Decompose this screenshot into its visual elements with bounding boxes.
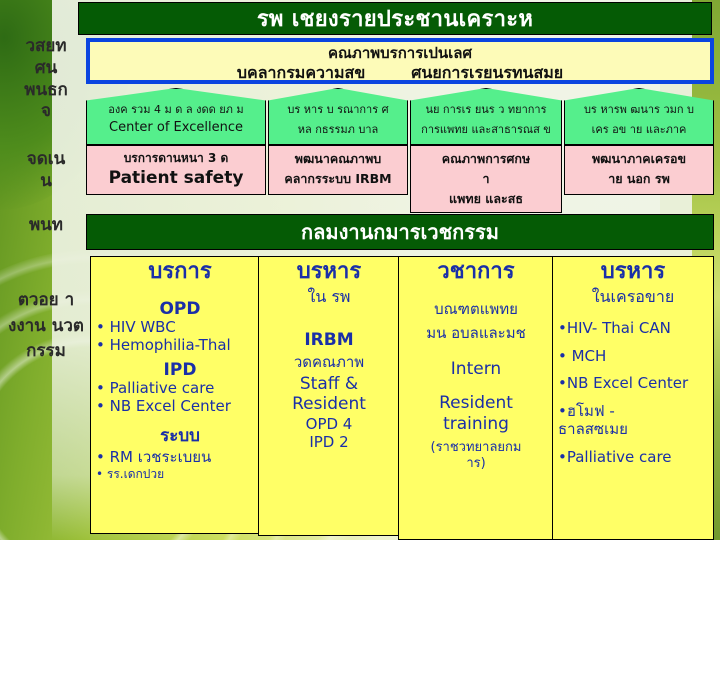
vision-line-2: บคลากรมความสขศนยการเรยนรทนสมย bbox=[90, 61, 710, 86]
column-admin-internal-subtitle: ใน รพ bbox=[259, 285, 399, 310]
column-services-item-2-1: • รร.เดกปวย bbox=[91, 467, 269, 481]
strategy-top-line-3b: การแพทย และสาธารณส ข bbox=[413, 120, 559, 138]
strategy-pink-4a: พฒนาภาคเครอข bbox=[569, 149, 709, 169]
strategy-pentagon-2: บร หาร บ รณาการ ศ หล กธรรมภ บาล bbox=[268, 88, 408, 145]
column-network: บรหาร ในเครอขาย •HIV- Thai CAN • MCH •NB… bbox=[552, 256, 714, 540]
column-academic-heading: วชาการ bbox=[399, 260, 553, 283]
strategy-card-1: องค รวม 4 ม ด ล งดด ยภ ม Center of Excel… bbox=[86, 88, 266, 195]
column-services-item-1-0: • Palliative care bbox=[91, 380, 269, 398]
strategy-top-line-1a: องค รวม 4 ม ด ล งดด ยภ ม bbox=[89, 100, 263, 118]
column-network-item-3: •ฮโมฟ - bbox=[553, 403, 713, 421]
strategy-top-line-2a: บร หาร บ รณาการ ศ bbox=[271, 100, 405, 118]
sidebar-label-5: น bbox=[2, 171, 90, 193]
strategy-top-line-4a: บร หารพ ฒนาร วมก บ bbox=[567, 100, 711, 118]
vision-line-2a: บคลากรมความสข bbox=[237, 63, 365, 82]
strategy-pink-1b: Patient safety bbox=[91, 168, 261, 188]
column-academic-line-0: บณฑตแพทย bbox=[399, 297, 553, 321]
column-network-subtitle: ในเครอขาย bbox=[553, 285, 713, 310]
column-academic-line-3: Resident bbox=[399, 393, 553, 413]
column-services-item-0-0: • HIV WBC bbox=[91, 319, 269, 337]
column-network-item-5: •Palliative care bbox=[553, 449, 713, 467]
column-network-item-4: ธาลสซเมย bbox=[553, 421, 713, 439]
column-academic: วชาการ บณฑตแพทย มน อบลและมช Intern Resid… bbox=[398, 256, 554, 540]
strategy-pink-2a: พฒนาคณภาพบ bbox=[273, 149, 403, 169]
strategy-pentagon-1: องค รวม 4 ม ด ล งดด ยภ ม Center of Excel… bbox=[86, 88, 266, 145]
strategy-pink-3: คณภาพการศกษ า แพทย และสธ bbox=[410, 145, 562, 213]
column-academic-line-1: มน อบลและมช bbox=[399, 321, 553, 345]
sidebar-lower-label-0: ตวอย bbox=[18, 290, 59, 310]
page-title-text: รพ เชยงรายประชานเคราะห bbox=[257, 1, 533, 36]
column-services-heading: บรการ bbox=[91, 260, 269, 283]
column-services-item-2-0: • RM เวชระเบยน bbox=[91, 449, 269, 467]
column-network-item-0: •HIV- Thai CAN bbox=[553, 320, 713, 338]
column-academic-line-2: Intern bbox=[399, 359, 553, 379]
strategy-pink-3b: า bbox=[415, 169, 557, 189]
column-admin-internal-line-2: Staff & bbox=[259, 374, 399, 394]
strategy-pentagon-3: นย การเร ยนร ว ทยาการ การแพทย และสาธารณส… bbox=[410, 88, 562, 145]
strategy-card-4: บร หารพ ฒนาร วมก บ เคร อข าย และภาค พฒนา… bbox=[564, 88, 714, 195]
sidebar-lower-label-2: นวต bbox=[52, 316, 84, 336]
column-services-item-0-1: • Hemophilia-Thal bbox=[91, 337, 269, 355]
column-services: บรการ OPD • HIV WBC • Hemophilia-Thal IP… bbox=[90, 256, 270, 534]
strategy-pink-1: บรการดานหนา 3 ด Patient safety bbox=[86, 145, 266, 195]
strategy-top-line-1b: Center of Excellence bbox=[89, 120, 263, 135]
column-admin-internal-line-5: IPD 2 bbox=[259, 433, 399, 451]
strategy-card-2: บร หาร บ รณาการ ศ หล กธรรมภ บาล พฒนาคณภา… bbox=[268, 88, 408, 195]
strategy-card-3: นย การเร ยนร ว ทยาการ การแพทย และสาธารณส… bbox=[410, 88, 562, 213]
column-admin-internal-line-4: OPD 4 bbox=[259, 415, 399, 433]
column-network-item-1: • MCH bbox=[553, 348, 713, 366]
strategy-top-line-4b: เคร อข าย และภาค bbox=[567, 120, 711, 138]
sidebar-label-6: พนท bbox=[2, 215, 90, 237]
group-banner: กลมงานกมารเวชกรรม bbox=[86, 214, 714, 250]
strategy-pink-3c: แพทย และสธ bbox=[415, 189, 557, 209]
strategy-pink-4: พฒนาภาคเครอข าย นอก รพ bbox=[564, 145, 714, 195]
column-academic-line-6: าร) bbox=[399, 456, 553, 472]
page-title: รพ เชยงรายประชานเคราะห bbox=[78, 2, 712, 35]
sidebar-label-4: จดเน bbox=[2, 149, 90, 171]
column-services-section-0-label: OPD bbox=[91, 299, 269, 319]
column-admin-internal: บรหาร ใน รพ IRBM วดคณภาพ Staff & Residen… bbox=[258, 256, 400, 536]
strategy-pink-2b: คลากรระบบ IRBM bbox=[273, 169, 403, 189]
strategy-pink-1a: บรการดานหนา 3 ด bbox=[91, 149, 261, 168]
column-admin-internal-line-1: วดคณภาพ bbox=[259, 350, 399, 374]
strategy-top-line-2b: หล กธรรมภ บาล bbox=[271, 120, 405, 138]
column-network-heading: บรหาร bbox=[553, 260, 713, 283]
column-admin-internal-line-0: IRBM bbox=[259, 330, 399, 350]
column-services-item-1-1: • NB Excel Center bbox=[91, 398, 269, 416]
vision-banner: คณภาพบรการเปนเลศ บคลากรมความสขศนยการเรยน… bbox=[86, 38, 714, 84]
column-network-item-2: •NB Excel Center bbox=[553, 375, 713, 393]
column-academic-line-4: training bbox=[399, 414, 553, 434]
sidebar-label-3: จ bbox=[2, 101, 90, 123]
column-services-section-1-label: IPD bbox=[91, 360, 269, 380]
strategy-pink-2: พฒนาคณภาพบ คลากรระบบ IRBM bbox=[268, 145, 408, 195]
strategy-top-line-3a: นย การเร ยนร ว ทยาการ bbox=[413, 100, 559, 118]
sidebar-label-0: วสยท bbox=[2, 36, 90, 58]
column-admin-internal-line-3: Resident bbox=[259, 394, 399, 414]
strategy-pentagon-4: บร หารพ ฒนาร วมก บ เคร อข าย และภาค bbox=[564, 88, 714, 145]
strategy-pink-4b: าย นอก รพ bbox=[569, 169, 709, 189]
sidebar-vision-labels: วสยท ศน พนธก จ จดเน น พนท bbox=[2, 36, 90, 236]
column-academic-line-5: (ราชวทยาลยกม bbox=[399, 440, 553, 456]
sidebar-label-2: พนธก bbox=[2, 80, 90, 102]
vision-line-2b: ศนยการเรยนรทนสมย bbox=[411, 63, 563, 82]
sidebar-innovation-labels: ตวอย างงาน นวต กรรม bbox=[2, 288, 90, 365]
sidebar-label-1: ศน bbox=[2, 58, 90, 80]
column-admin-internal-heading: บรหาร bbox=[259, 260, 399, 283]
group-banner-text: กลมงานกมารเวชกรรม bbox=[301, 216, 499, 248]
sidebar-lower-label-3: กรรม bbox=[26, 341, 66, 361]
strategy-pink-3a: คณภาพการศกษ bbox=[415, 149, 557, 169]
column-services-section-2-label: ระบบ bbox=[91, 422, 269, 449]
